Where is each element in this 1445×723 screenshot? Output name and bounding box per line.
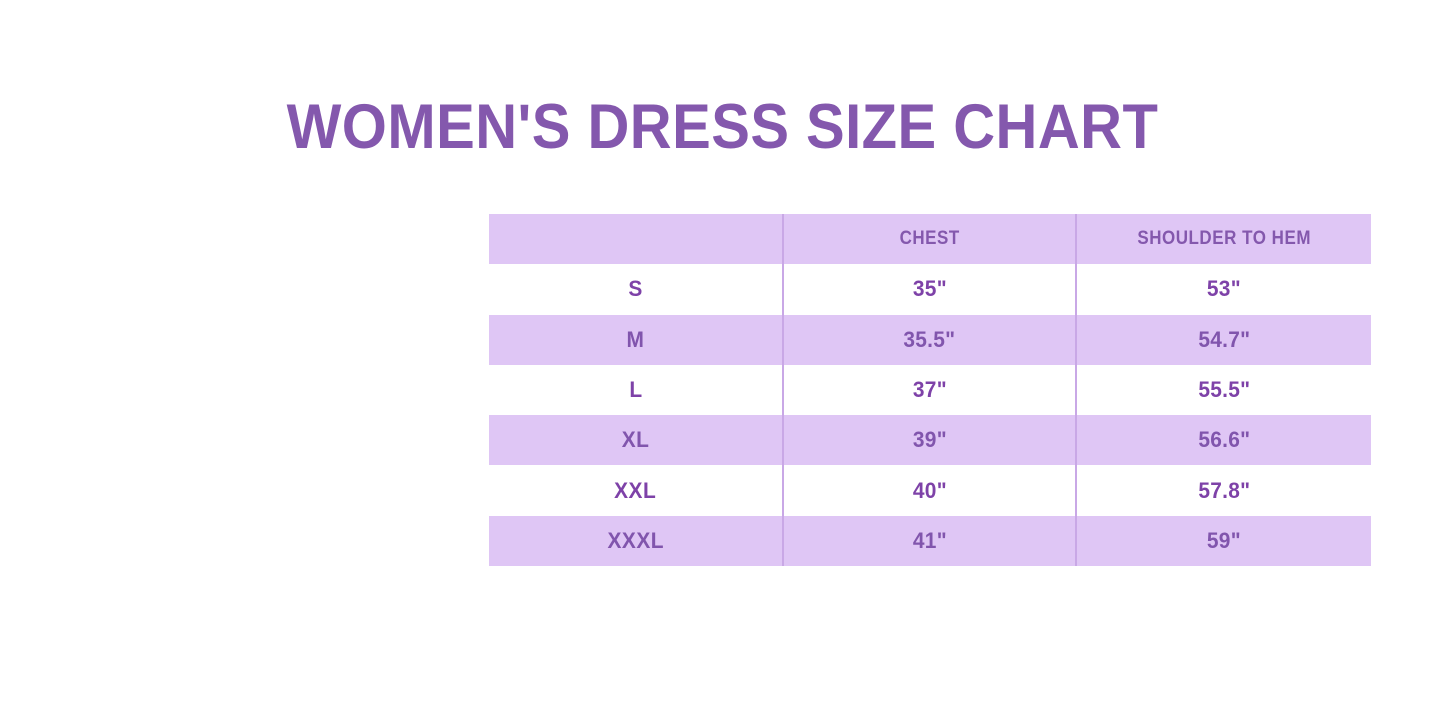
cell-shoulder-to-hem-value: 54.7" bbox=[1198, 327, 1250, 353]
cell-shoulder-to-hem-value: 59" bbox=[1207, 528, 1241, 554]
cell-shoulder-to-hem-value: 56.6" bbox=[1198, 427, 1250, 453]
size-chart-table: CHEST SHOULDER TO HEM S 35" 53" bbox=[489, 214, 1371, 566]
cell-shoulder-to-hem: 54.7" bbox=[1076, 315, 1371, 365]
cell-shoulder-to-hem: 56.6" bbox=[1076, 415, 1371, 465]
cell-chest: 37" bbox=[783, 365, 1076, 415]
cell-size-value: M bbox=[627, 327, 645, 353]
cell-size: XXXL bbox=[489, 516, 783, 566]
cell-size-value: XL bbox=[622, 427, 650, 453]
cell-shoulder-to-hem-value: 53" bbox=[1207, 276, 1241, 302]
table-row: M 35.5" 54.7" bbox=[489, 315, 1371, 365]
cell-size-value: XXXL bbox=[607, 528, 663, 554]
cell-size: S bbox=[489, 264, 783, 314]
cell-chest-value: 35.5" bbox=[903, 327, 955, 353]
size-chart-table-container: CHEST SHOULDER TO HEM S 35" 53" bbox=[489, 214, 1371, 566]
table-header-row: CHEST SHOULDER TO HEM bbox=[489, 214, 1371, 264]
cell-size: XXL bbox=[489, 465, 783, 515]
cell-size: XL bbox=[489, 415, 783, 465]
table-row: L 37" 55.5" bbox=[489, 365, 1371, 415]
cell-size: M bbox=[489, 315, 783, 365]
cell-chest: 40" bbox=[783, 465, 1076, 515]
cell-chest: 41" bbox=[783, 516, 1076, 566]
column-header-chest: CHEST bbox=[792, 214, 1067, 264]
column-header-shoulder-to-hem: SHOULDER TO HEM bbox=[1085, 214, 1362, 264]
cell-chest-value: 35" bbox=[912, 276, 946, 302]
cell-chest: 39" bbox=[783, 415, 1076, 465]
cell-size: L bbox=[489, 365, 783, 415]
cell-chest: 35" bbox=[783, 264, 1076, 314]
column-header-size bbox=[498, 214, 774, 264]
cell-shoulder-to-hem: 55.5" bbox=[1076, 365, 1371, 415]
column-header-shoulder-to-hem-label: SHOULDER TO HEM bbox=[1137, 228, 1311, 250]
cell-chest: 35.5" bbox=[783, 315, 1076, 365]
table-row: S 35" 53" bbox=[489, 264, 1371, 314]
cell-size-value: L bbox=[629, 377, 642, 403]
cell-chest-value: 37" bbox=[912, 377, 946, 403]
cell-chest-value: 40" bbox=[912, 478, 946, 504]
cell-shoulder-to-hem-value: 55.5" bbox=[1198, 377, 1250, 403]
table-row: XXXL 41" 59" bbox=[489, 516, 1371, 566]
cell-size-value: S bbox=[628, 276, 642, 302]
table-row: XL 39" 56.6" bbox=[489, 415, 1371, 465]
cell-chest-value: 39" bbox=[912, 427, 946, 453]
cell-shoulder-to-hem: 59" bbox=[1076, 516, 1371, 566]
cell-chest-value: 41" bbox=[912, 528, 946, 554]
cell-shoulder-to-hem: 53" bbox=[1076, 264, 1371, 314]
cell-size-value: XXL bbox=[614, 478, 656, 504]
size-chart-page: WOMEN'S DRESS SIZE CHART CHEST SHOULDER … bbox=[0, 0, 1445, 723]
table-row: XXL 40" 57.8" bbox=[489, 465, 1371, 515]
cell-shoulder-to-hem-value: 57.8" bbox=[1198, 478, 1250, 504]
cell-shoulder-to-hem: 57.8" bbox=[1076, 465, 1371, 515]
page-title: WOMEN'S DRESS SIZE CHART bbox=[58, 94, 1387, 160]
column-header-chest-label: CHEST bbox=[899, 228, 959, 250]
